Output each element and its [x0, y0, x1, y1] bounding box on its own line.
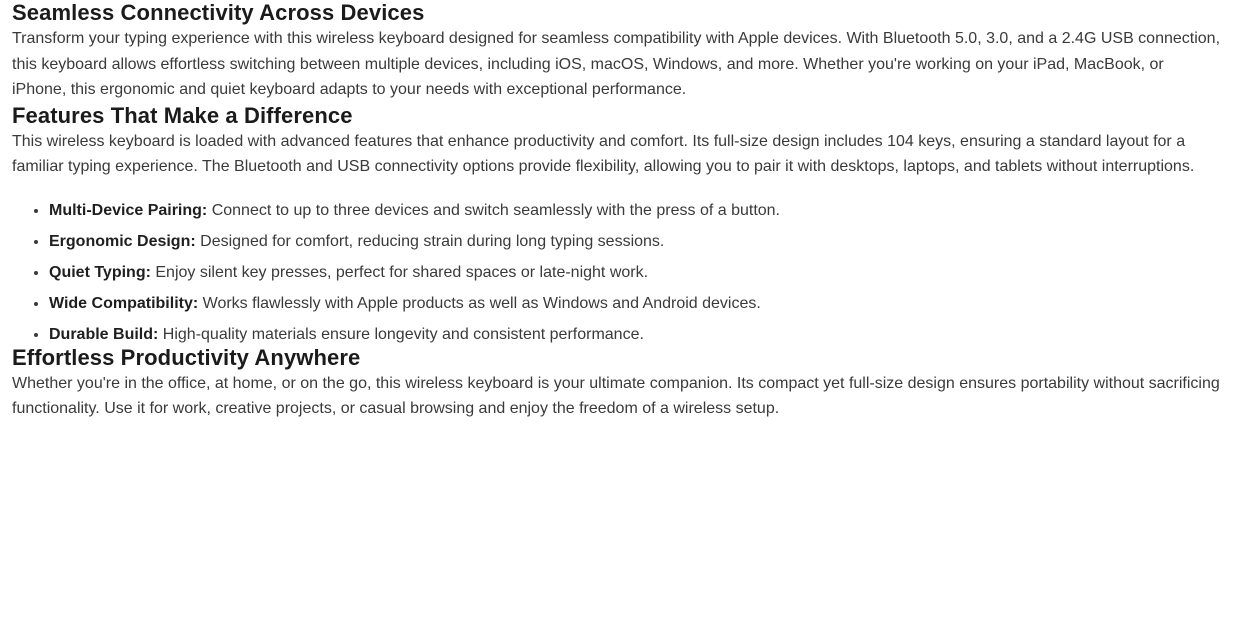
list-item: Multi-Device Pairing: Connect to up to t… [12, 201, 1221, 221]
bullet-icon [34, 302, 38, 306]
list-item: Ergonomic Design: Designed for comfort, … [12, 232, 1221, 252]
feature-title: Multi-Device Pairing: [49, 202, 207, 219]
bullet-icon [34, 271, 38, 275]
bullet-icon [34, 240, 38, 244]
feature-description: Enjoy silent key presses, perfect for sh… [151, 264, 648, 281]
section-heading-productivity: Effortless Productivity Anywhere [12, 345, 1221, 371]
feature-description: Connect to up to three devices and switc… [207, 202, 780, 219]
feature-description: High-quality materials ensure longevity … [158, 326, 644, 343]
section-heading-connectivity: Seamless Connectivity Across Devices [12, 0, 1221, 26]
section-paragraph-connectivity: Transform your typing experience with th… [12, 26, 1221, 103]
feature-description: Works flawlessly with Apple products as … [198, 295, 761, 312]
feature-title: Wide Compatibility: [49, 295, 198, 312]
list-item: Wide Compatibility: Works flawlessly wit… [12, 294, 1221, 314]
feature-list: Multi-Device Pairing: Connect to up to t… [12, 201, 1221, 345]
list-item: Quiet Typing: Enjoy silent key presses, … [12, 263, 1221, 283]
bullet-icon [34, 333, 38, 337]
section-paragraph-features: This wireless keyboard is loaded with ad… [12, 129, 1221, 180]
product-description-page: Seamless Connectivity Across Devices Tra… [0, 0, 1239, 631]
feature-title: Quiet Typing: [49, 264, 151, 281]
section-heading-features: Features That Make a Difference [12, 103, 1221, 129]
feature-description: Designed for comfort, reducing strain du… [196, 233, 665, 250]
list-item: Durable Build: High-quality materials en… [12, 325, 1221, 345]
bullet-icon [34, 209, 38, 213]
feature-title: Durable Build: [49, 326, 158, 343]
feature-title: Ergonomic Design: [49, 233, 196, 250]
section-paragraph-productivity: Whether you're in the office, at home, o… [12, 371, 1221, 422]
